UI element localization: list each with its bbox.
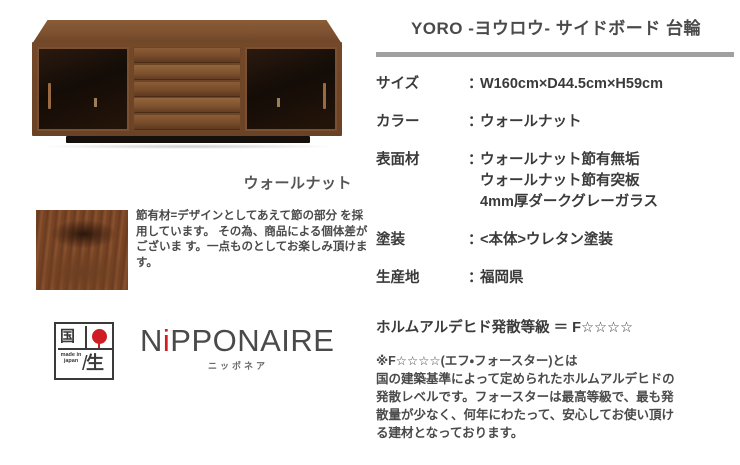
spec-label: 表面材 <box>376 150 468 213</box>
door-handle-left <box>48 83 51 109</box>
right-column: YORO -ヨウロウ- サイドボード 台輪 サイズ ： W160cm×D44.5… <box>368 0 740 465</box>
mark-horizontal-rule <box>58 348 112 350</box>
japan-red-sun-icon <box>92 329 107 344</box>
glass-door-right <box>245 47 337 131</box>
spec-value-line: <本体>ウレタン塗装 <box>480 230 736 251</box>
footnote-line: ※F☆☆☆☆(エフ・フォースター)とは <box>376 352 728 370</box>
interior-knob-right <box>277 98 280 107</box>
spec-value-line: ウォールナット節有無垢 <box>480 150 736 171</box>
spec-value-line: 4mm厚ダークグレーガラス <box>480 192 736 213</box>
spec-value-line: W160cm×D44.5cm×H59cm <box>480 74 736 95</box>
spec-value: W160cm×D44.5cm×H59cm <box>480 74 736 95</box>
made-in-japan-mark-icon: 国 made in japan / 生 <box>54 322 114 380</box>
walnut-wood-swatch <box>36 210 128 290</box>
footnote-line: る建材となっております。 <box>376 424 728 442</box>
sideboard-body <box>32 42 342 136</box>
drawer <box>134 98 240 113</box>
footnote-line: 国の建築基準によって定められたホルムアルデヒドの <box>376 370 728 388</box>
spec-row-surface-material: 表面材 ： ウォールナット節有無垢 ウォールナット節有突板 4mm厚ダークグレー… <box>376 150 736 213</box>
drawer <box>134 48 240 63</box>
drawer <box>134 82 240 97</box>
formaldehyde-grade: ホルムアルデヒド発散等級 ＝ F☆☆☆☆ <box>376 316 736 337</box>
sideboard-top-panel <box>32 20 342 44</box>
nipponaire-logo: 国 made in japan / 生 NiPPONAIRE ニッポネア <box>54 322 354 384</box>
mark-kanji-san: 生 <box>86 354 104 374</box>
specification-table: サイズ ： W160cm×D44.5cm×H59cm カラー ： ウォールナット… <box>376 74 736 306</box>
brand-kana: ニッポネア <box>140 359 336 372</box>
brand-letters-rest: PPONAIRE <box>170 323 334 358</box>
brand-wordmark: NiPPONAIRE ニッポネア <box>140 324 350 372</box>
formaldehyde-footnote: ※F☆☆☆☆(エフ・フォースター)とは 国の建築基準によって定められたホルムアル… <box>376 352 728 442</box>
spec-colon: ： <box>468 112 480 133</box>
footnote-line: 散量が少なく、何年にわたって、安心してお使い頂け <box>376 406 728 424</box>
brand-letter-n: N <box>140 323 163 358</box>
spec-value: <本体>ウレタン塗装 <box>480 230 736 251</box>
spec-label: 生産地 <box>376 268 468 289</box>
drawer-stack <box>133 47 241 131</box>
page-title: YORO -ヨウロウ- サイドボード 台輪 <box>378 14 734 39</box>
spec-row-size: サイズ ： W160cm×D44.5cm×H59cm <box>376 74 736 95</box>
mark-vertical-rule <box>85 326 87 348</box>
spec-colon: ： <box>468 230 480 251</box>
spec-value-line: 福岡県 <box>480 268 736 289</box>
walnut-sideboard-photo <box>8 14 360 166</box>
mark-kanji-kuni: 国 <box>60 328 75 344</box>
spec-colon: ： <box>468 268 480 289</box>
spec-label: 塗装 <box>376 230 468 251</box>
interior-knob-left <box>94 98 97 107</box>
left-column: ウォールナット 節有材=デザインとしてあえて節の部分 を採用しています。 その為… <box>0 0 368 465</box>
spec-value-line: ウォールナット <box>480 112 736 133</box>
spec-row-origin: 生産地 ： 福岡県 <box>376 268 736 289</box>
glass-door-left <box>37 47 129 131</box>
spec-value: ウォールナット節有無垢 ウォールナット節有突板 4mm厚ダークグレーガラス <box>480 150 736 213</box>
drop-shadow <box>42 144 334 149</box>
spec-value: ウォールナット <box>480 112 736 133</box>
spec-row-finish: 塗装 ： <本体>ウレタン塗装 <box>376 230 736 251</box>
made-in-japan-text: made in japan <box>60 352 82 364</box>
brand-name: NiPPONAIRE <box>140 324 350 358</box>
product-spec-page: ウォールナット 節有材=デザインとしてあえて節の部分 を採用しています。 その為… <box>0 0 740 465</box>
sideboard-illustration <box>32 20 342 156</box>
spec-row-color: カラー ： ウォールナット <box>376 112 736 133</box>
spec-colon: ： <box>468 74 480 95</box>
sideboard-plinth <box>66 136 310 143</box>
spec-value: 福岡県 <box>480 268 736 289</box>
color-caption: ウォールナット <box>0 172 352 193</box>
spec-value-line: ウォールナット節有突板 <box>480 171 736 192</box>
title-divider <box>376 52 734 57</box>
door-handle-right <box>323 83 326 109</box>
spec-label: サイズ <box>376 74 468 95</box>
spec-label: カラー <box>376 112 468 133</box>
note-line: 節有材=デザインとしてあえて節の部分 <box>136 210 337 222</box>
knot-material-note: 節有材=デザインとしてあえて節の部分 を採用しています。 その為、商品による個体… <box>136 209 368 271</box>
footnote-line: 発散レベルです。フォースターは最高等級で、最も発 <box>376 388 728 406</box>
drawer <box>134 115 240 130</box>
spec-colon: ： <box>468 150 480 213</box>
drawer <box>134 65 240 80</box>
